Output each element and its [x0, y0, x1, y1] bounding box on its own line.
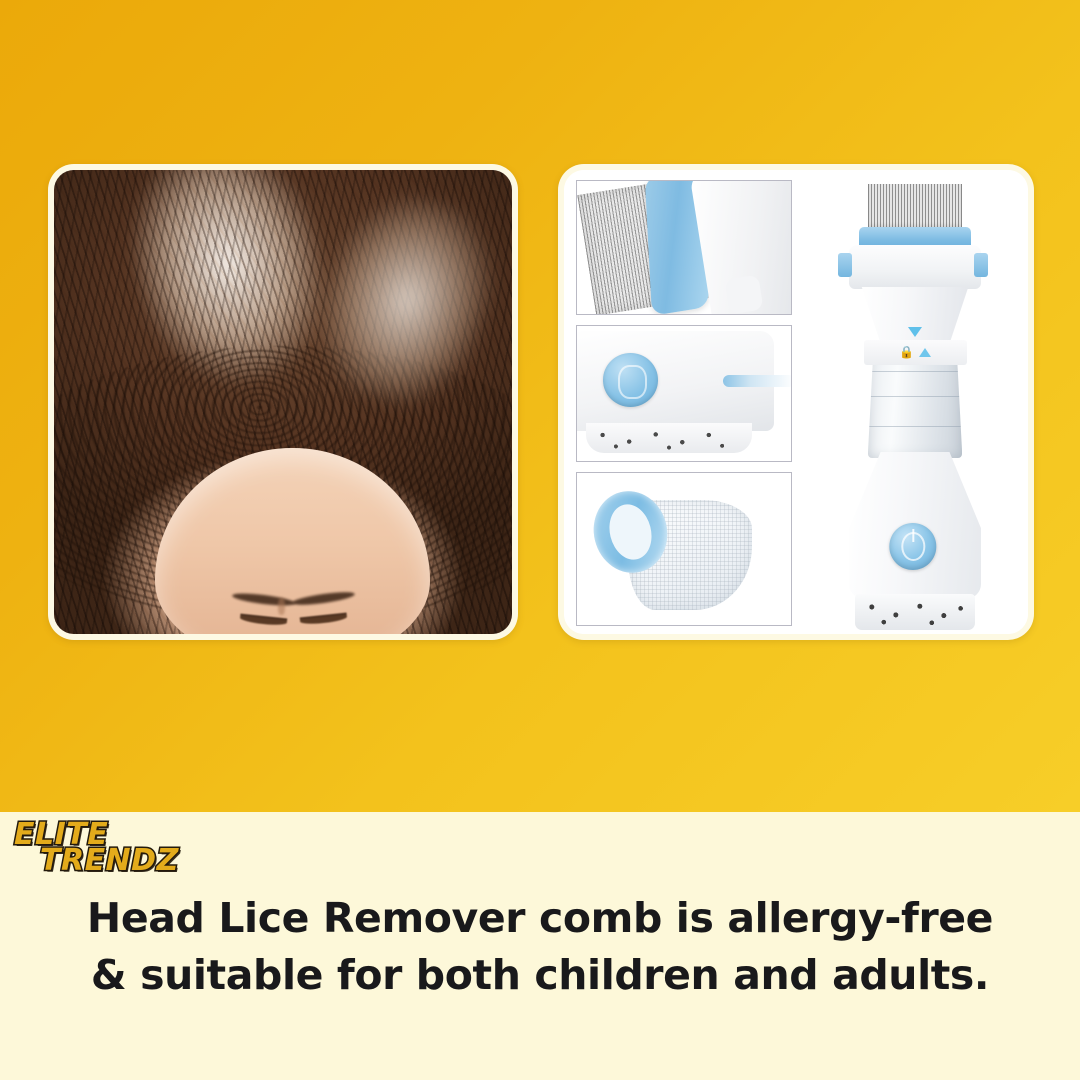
- hero-panel: 🔒: [0, 0, 1080, 812]
- eyebrow-right: [292, 590, 356, 608]
- filter-illustration: [577, 473, 791, 625]
- comb-teeth-illustration: [577, 181, 791, 314]
- chamber-band: [868, 371, 963, 372]
- headline: Head Lice Remover comb is allergy-free &…: [0, 890, 1080, 1003]
- triangle-up-icon: [919, 348, 931, 357]
- eyebrow-left: [231, 591, 295, 608]
- mesh-filter-closeup: [576, 472, 792, 626]
- eye-right-closed: [300, 612, 347, 624]
- vent-holes: [586, 423, 753, 453]
- triangle-down-icon: [908, 327, 922, 337]
- headline-line-2: & suitable for both children and adults.: [0, 947, 1080, 1004]
- button-illustration: [577, 326, 791, 461]
- photo-card-product-frame: 🔒: [564, 170, 1028, 634]
- photo-card-scalp-frame: [54, 170, 512, 634]
- power-icon: [901, 532, 925, 560]
- footer-panel: ELITE TRENDZ Head Lice Remover comb is a…: [0, 812, 1080, 1080]
- collection-chamber: [868, 351, 963, 458]
- power-button-vents-closeup: [576, 325, 792, 462]
- brand-logo[interactable]: ELITE TRENDZ: [14, 822, 179, 875]
- photo-card-product[interactable]: 🔒: [558, 164, 1034, 640]
- comb-teeth-closeup: [576, 180, 792, 315]
- blue-button: [603, 353, 659, 407]
- device-clip-right: [974, 253, 988, 277]
- eye-left-closed: [240, 613, 287, 625]
- headline-line-1: Head Lice Remover comb is allergy-free: [0, 890, 1080, 947]
- lock-indicator-strip: 🔒: [864, 340, 967, 365]
- comb-tip: [724, 274, 763, 314]
- product-photo: 🔒: [564, 170, 1028, 634]
- chamber-band: [868, 396, 963, 397]
- brand-logo-line2: TRENDZ: [40, 848, 179, 874]
- photo-card-scalp[interactable]: [48, 164, 518, 640]
- power-button[interactable]: [889, 523, 936, 570]
- device-base-vents: [855, 594, 974, 630]
- electric-lice-comb: 🔒: [810, 184, 1016, 630]
- scalp-photo: [54, 170, 512, 634]
- device-clip-left: [838, 253, 852, 277]
- lock-icon: 🔒: [899, 346, 914, 358]
- ad-creative: 🔒 ELITE TRENDZ Head Lice: [0, 0, 1080, 1080]
- cable: [723, 375, 792, 387]
- device-comb-teeth: [868, 184, 963, 229]
- chamber-band: [868, 426, 963, 427]
- frown-line: [278, 598, 285, 615]
- device-head: [849, 245, 981, 290]
